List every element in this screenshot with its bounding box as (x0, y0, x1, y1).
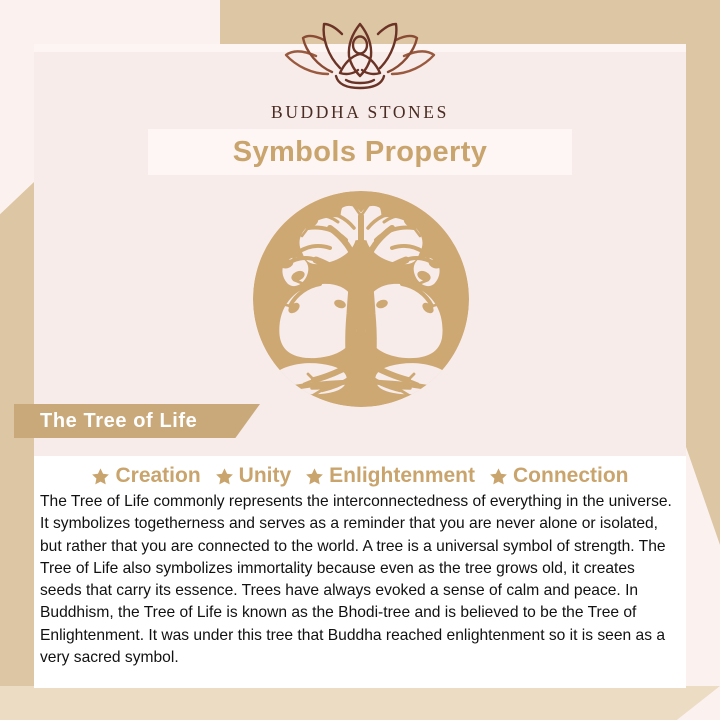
brand-name: BUDDHA STONES (271, 102, 449, 123)
brand-logo: BUDDHA STONES (0, 18, 720, 123)
star-icon (215, 467, 234, 486)
tree-of-life-illustration (250, 188, 472, 410)
keyword-label: Creation (115, 464, 200, 488)
symbol-label: The Tree of Life (40, 410, 197, 433)
description-card: Creation Unity Enlightenment Connection (34, 456, 686, 688)
star-icon (489, 467, 508, 486)
keyword-list: Creation Unity Enlightenment Connection (34, 456, 686, 488)
star-icon (305, 467, 324, 486)
decorative-band-left (0, 182, 34, 720)
keyword-item-enlightenment: Enlightenment (305, 464, 475, 488)
page-title: Symbols Property (233, 136, 488, 169)
keyword-label: Connection (513, 464, 629, 488)
keyword-item-connection: Connection (489, 464, 629, 488)
lotus-meditation-icon (276, 18, 444, 96)
page-title-banner: Symbols Property (148, 129, 572, 175)
symbols-property-infographic: BUDDHA STONES Symbols Property (0, 0, 720, 720)
keyword-label: Enlightenment (329, 464, 475, 488)
tree-of-life-circle-icon (250, 188, 472, 410)
keyword-item-creation: Creation (91, 464, 200, 488)
star-icon (91, 467, 110, 486)
description-paragraph: The Tree of Life commonly represents the… (40, 491, 678, 669)
keyword-item-unity: Unity (215, 464, 292, 488)
symbol-label-banner: The Tree of Life (14, 404, 260, 438)
decorative-band-bottom (0, 686, 720, 720)
keyword-label: Unity (239, 464, 292, 488)
